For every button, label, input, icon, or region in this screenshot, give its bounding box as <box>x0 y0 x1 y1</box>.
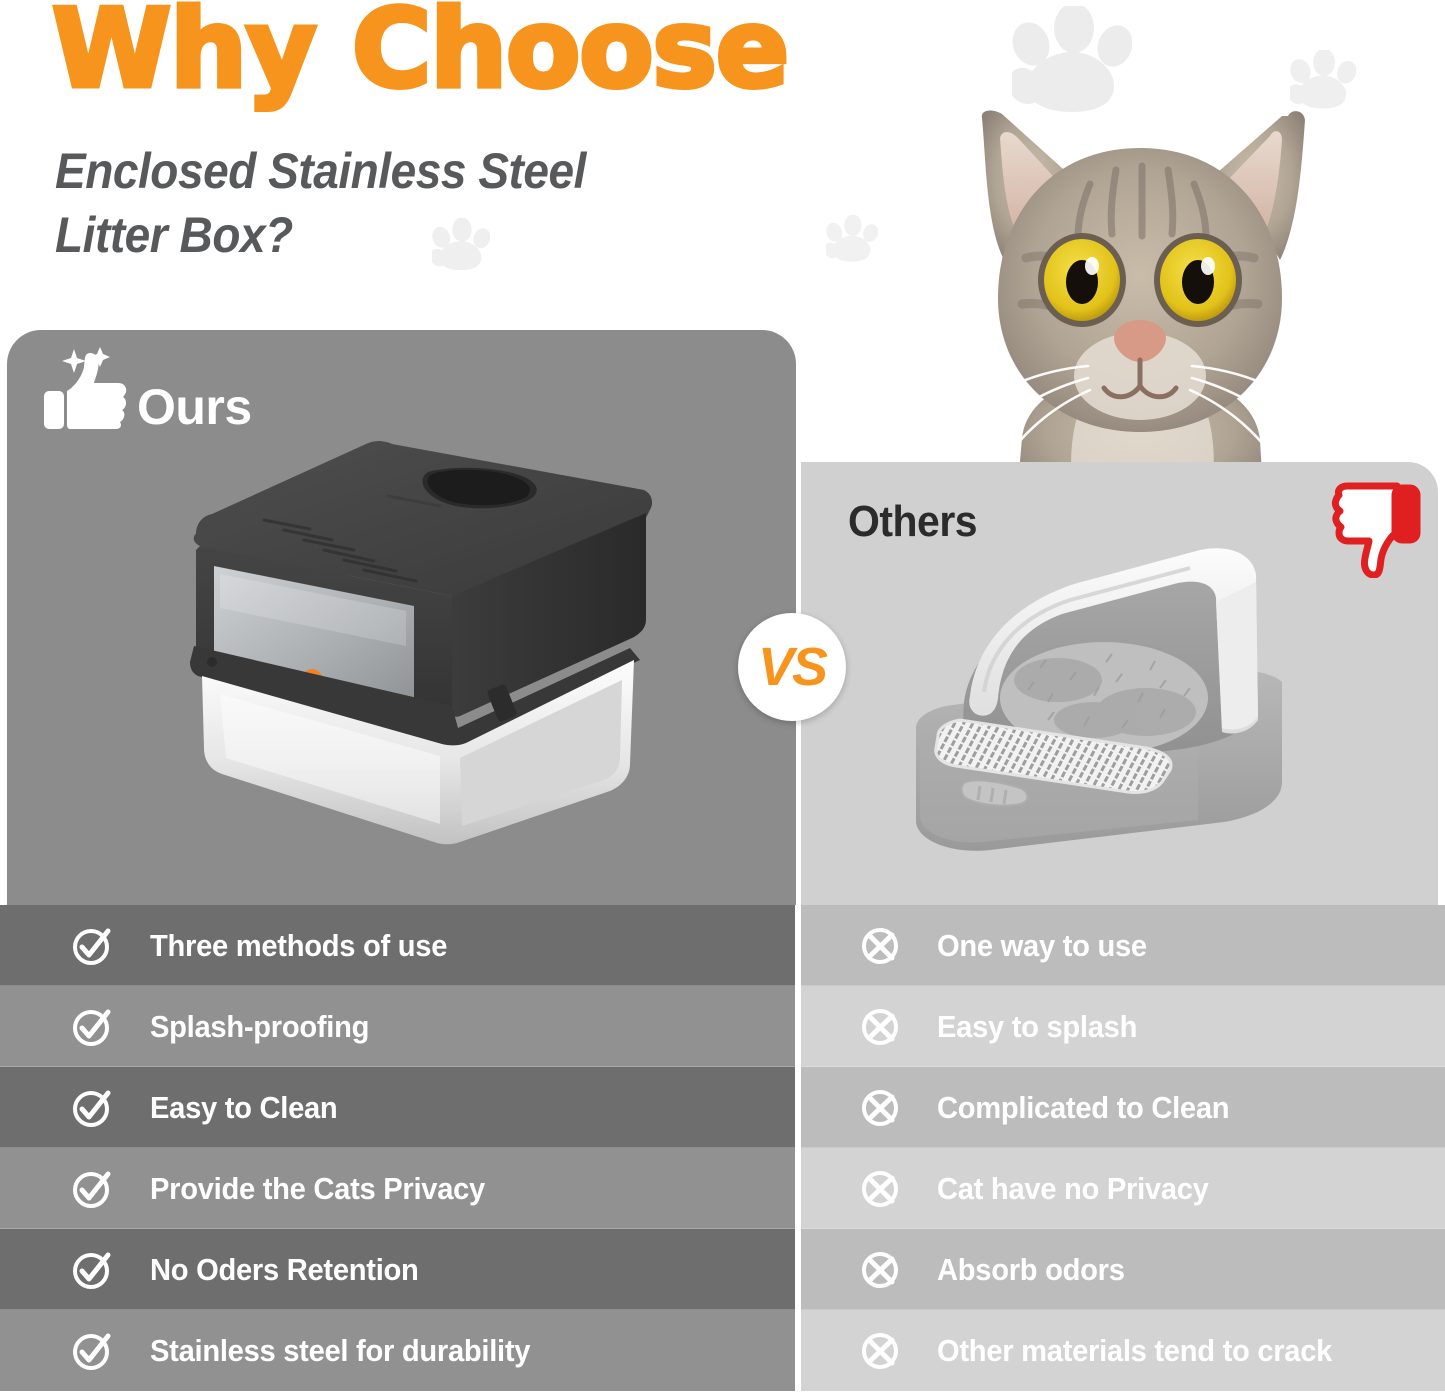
circle-check-icon <box>70 924 114 968</box>
vs-label: VS <box>758 636 826 698</box>
thumbs-up-icon <box>40 345 130 435</box>
others-feature-label: Cat have no Privacy <box>937 1171 1209 1207</box>
ours-feature-label: Splash-proofing <box>150 1009 369 1045</box>
table-row: No Oders Retention <box>0 1229 795 1310</box>
ours-feature-column: Three methods of use Splash-proofing Eas… <box>0 905 795 1392</box>
header: Why Choose Enclosed Stainless Steel Litt… <box>0 0 960 330</box>
ours-product-image <box>160 428 680 848</box>
page-title: Why Choose <box>52 0 788 104</box>
table-row: Cat have no Privacy <box>801 1148 1445 1229</box>
circle-check-icon <box>70 1086 114 1130</box>
others-feature-label: One way to use <box>937 928 1147 964</box>
others-product-image <box>898 520 1330 862</box>
page-subtitle-line1: Enclosed Stainless Steel <box>55 140 586 204</box>
table-row: One way to use <box>801 905 1445 986</box>
others-feature-label: Absorb odors <box>937 1252 1125 1288</box>
ours-feature-label: No Oders Retention <box>150 1252 419 1288</box>
circle-x-icon <box>858 1086 902 1130</box>
table-row: Absorb odors <box>801 1229 1445 1310</box>
others-feature-column: One way to use Easy to splash Complicate… <box>801 905 1445 1392</box>
thumbs-down-icon <box>1325 482 1421 578</box>
vs-badge: VS <box>738 613 846 721</box>
page-subtitle-line2: Litter Box? <box>55 204 586 268</box>
others-feature-label: Other materials tend to crack <box>937 1333 1332 1369</box>
circle-x-icon <box>858 1329 902 1373</box>
table-row: Splash-proofing <box>0 986 795 1067</box>
others-feature-label: Complicated to Clean <box>937 1090 1229 1126</box>
table-row: Easy to Clean <box>0 1067 795 1148</box>
circle-x-icon <box>858 1248 902 1292</box>
feature-comparison-table: Three methods of use Splash-proofing Eas… <box>0 905 1445 1392</box>
circle-check-icon <box>70 1167 114 1211</box>
ours-feature-label: Three methods of use <box>150 928 447 964</box>
circle-x-icon <box>858 1005 902 1049</box>
ours-feature-label: Easy to Clean <box>150 1090 337 1126</box>
table-row: Three methods of use <box>0 905 795 986</box>
ours-feature-label: Stainless steel for durability <box>150 1333 530 1369</box>
table-row: Other materials tend to crack <box>801 1310 1445 1391</box>
circle-x-icon <box>858 924 902 968</box>
circle-check-icon <box>70 1248 114 1292</box>
circle-x-icon <box>858 1167 902 1211</box>
paw-print-icon <box>1290 50 1356 112</box>
paw-print-icon <box>1012 6 1132 118</box>
others-feature-label: Easy to splash <box>937 1009 1137 1045</box>
page-subtitle: Enclosed Stainless Steel Litter Box? <box>55 140 586 267</box>
circle-check-icon <box>70 1329 114 1373</box>
table-row: Easy to splash <box>801 986 1445 1067</box>
table-row: Complicated to Clean <box>801 1067 1445 1148</box>
circle-check-icon <box>70 1005 114 1049</box>
ours-feature-label: Provide the Cats Privacy <box>150 1171 485 1207</box>
table-row: Stainless steel for durability <box>0 1310 795 1391</box>
cat-photo <box>930 108 1350 508</box>
table-row: Provide the Cats Privacy <box>0 1148 795 1229</box>
